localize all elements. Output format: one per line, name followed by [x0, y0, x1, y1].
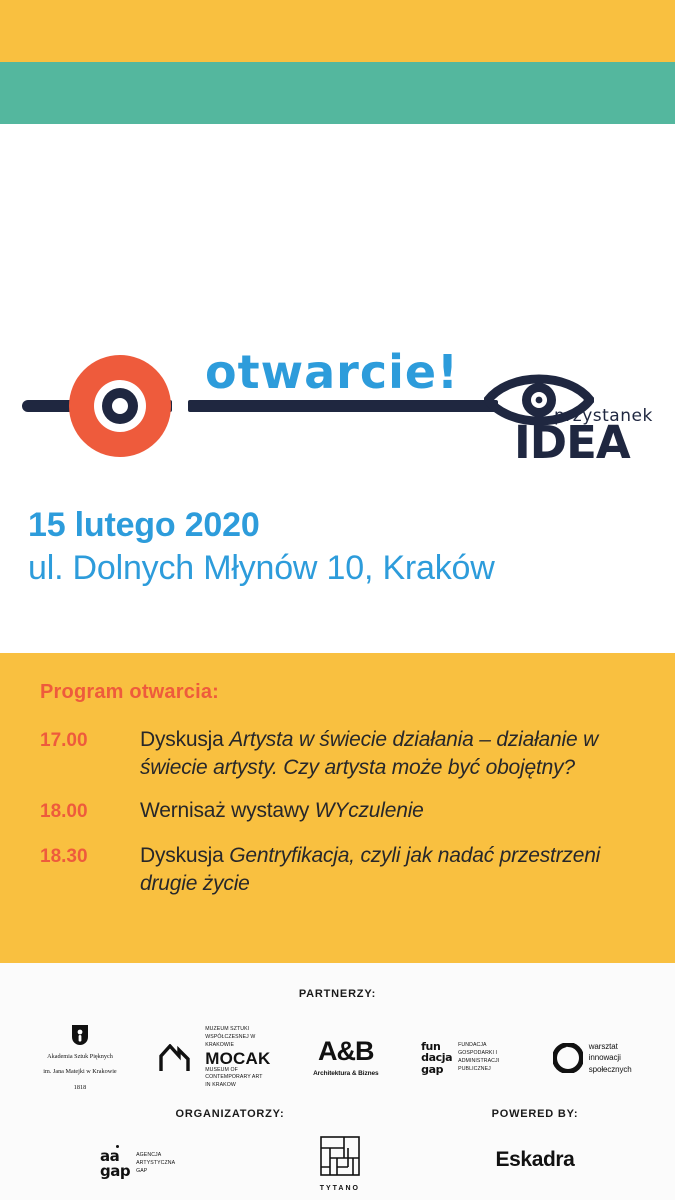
- partner-gap-sub: FUNDACJA GOSPODARKI I ADMINISTRACJI PUBL…: [458, 1042, 510, 1073]
- programme-item-description: Wernisaż wystawy WYczulenie: [140, 797, 635, 825]
- event-when-where: 15 lutego 2020 ul. Dolnych Młynów 10, Kr…: [28, 504, 648, 589]
- partner-mocak-above: MUZEUM SZTUKI WSPÓŁCZESNEJ W KRAKOWIE: [205, 1026, 267, 1049]
- logo-lockup: otwarcie! przystanek IDEA: [0, 234, 675, 384]
- partner-logo-fundacja-gap: fun dacja gap FUNDACJA GOSPODARKI I ADMI…: [421, 1041, 510, 1076]
- hero-section: otwarcie! przystanek IDEA 15 lutego 2020…: [0, 124, 675, 653]
- partner-asp-line2: im. Jana Matejki w Krakowie: [43, 1067, 116, 1076]
- top-band-yellow: [0, 0, 675, 62]
- programme-item-time: 18.00: [40, 797, 140, 826]
- programme-item-description: Dyskusja Gentryfikacja, czyli jak nadać …: [140, 842, 635, 897]
- programme-panel: Program otwarcia: 17.00 Dyskusja Artysta…: [0, 653, 675, 963]
- partner-wis-l3: społecznych: [589, 1064, 632, 1076]
- partner-gap-word-l3: gap: [421, 1064, 443, 1076]
- programme-item: 18.00 Wernisaż wystawy WYczulenie: [40, 797, 635, 826]
- event-date: 15 lutego 2020: [28, 504, 648, 547]
- programme-item-description: Dyskusja Artysta w świecie działania – d…: [140, 726, 635, 781]
- partner-mocak-word: MOCAK: [205, 1050, 270, 1067]
- poster-root: otwarcie! przystanek IDEA 15 lutego 2020…: [0, 0, 675, 1200]
- partner-wis-l2: innowacji: [589, 1052, 621, 1064]
- otwarcie-wordmark: otwarcie!: [205, 349, 459, 395]
- organizers-logo-row: aa gap AGENCJA ARTYSTYCZNA GAP TYTANO: [100, 1135, 360, 1193]
- powered-by-heading: POWERED BY:: [400, 1108, 670, 1120]
- partners-heading: PARTNERZY:: [0, 988, 675, 1000]
- programme-item-lead: Wernisaż wystawy: [140, 799, 315, 822]
- shield-icon: [71, 1024, 89, 1046]
- partner-ab-sub: Architektura & Biznes: [313, 1070, 378, 1077]
- organizer-aagap-sub-l3: GAP: [136, 1168, 147, 1176]
- programme-title: Program otwarcia:: [40, 681, 635, 704]
- organizer-logo-tytano: TYTANO: [320, 1136, 360, 1192]
- programme-item-lead: Dyskusja: [140, 844, 229, 867]
- footer-section: PARTNERZY: Akademia Sztuk Pięknych im. J…: [0, 963, 675, 1200]
- target-center-dot-icon: [112, 398, 128, 414]
- target-circle-icon: [69, 355, 171, 457]
- partner-logo-mocak: MUZEUM SZTUKI WSPÓŁCZESNEJ W KRAKOWIE MO…: [159, 1026, 270, 1090]
- partner-wis-l1: warsztat: [589, 1041, 618, 1053]
- partner-asp-line3: 1818: [74, 1083, 86, 1092]
- organizer-tytano-word: TYTANO: [320, 1185, 360, 1192]
- aagap-dot-icon: [116, 1145, 119, 1148]
- programme-item: 17.00 Dyskusja Artysta w świecie działan…: [40, 726, 635, 781]
- programme-item-time: 17.00: [40, 726, 140, 755]
- organizer-aagap-sub-l1: AGENCJA: [136, 1152, 161, 1160]
- partner-asp-line1: Akademia Sztuk Pięknych: [47, 1052, 113, 1061]
- partner-mocak-below: MUSEUM OF CONTEMPORARY ART IN KRAKOW: [205, 1067, 267, 1090]
- mocak-roof-icon: [159, 1044, 199, 1072]
- brush-ring-icon: [553, 1043, 583, 1073]
- partner-logo-ab: A&B Architektura & Biznes: [313, 1039, 378, 1078]
- organizer-aagap-l2: gap: [100, 1164, 130, 1179]
- idea-label: IDEA: [514, 420, 630, 465]
- powered-by-logo-eskadra: Eskadra: [400, 1148, 670, 1172]
- logo-rule-right-icon: [188, 400, 498, 412]
- organizers-heading: ORGANIZATORZY:: [20, 1108, 440, 1120]
- programme-item-lead: Dyskusja: [140, 728, 229, 751]
- top-band-teal: [0, 62, 675, 124]
- partner-logo-wis: warsztat innowacji społecznych: [553, 1041, 632, 1076]
- organizer-aagap-sub-l2: ARTYSTYCZNA: [136, 1160, 175, 1168]
- przystanek-idea-logo: przystanek IDEA: [482, 366, 672, 476]
- event-address: ul. Dolnych Młynów 10, Kraków: [28, 547, 648, 590]
- partners-logo-row: Akademia Sztuk Pięknych im. Jana Matejki…: [0, 1018, 675, 1098]
- programme-item: 18.30 Dyskusja Gentryfikacja, czyli jak …: [40, 842, 635, 897]
- tytano-maze-icon: [320, 1136, 360, 1176]
- organizer-logo-aagap: aa gap AGENCJA ARTYSTYCZNA GAP: [100, 1149, 175, 1179]
- partner-ab-word: A&B: [318, 1039, 374, 1065]
- partner-logo-asp: Akademia Sztuk Pięknych im. Jana Matejki…: [43, 1024, 116, 1092]
- programme-item-title: WYczulenie: [315, 799, 424, 822]
- programme-item-time: 18.30: [40, 842, 140, 871]
